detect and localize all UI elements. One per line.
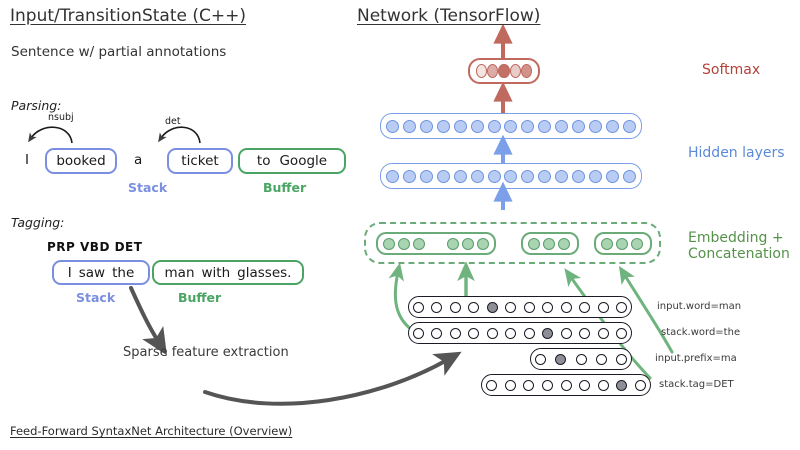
feature-label-3: stack.tag=DET (659, 379, 734, 390)
embed-node-0-1 (398, 238, 410, 250)
sparse-node-0-8 (561, 302, 572, 313)
sparse-node-1-4 (487, 328, 498, 339)
sparse-node-2-4 (616, 354, 627, 365)
embed-node-0-0 (383, 238, 395, 250)
token-I: I (25, 152, 29, 168)
sparse-node-0-4 (487, 302, 498, 313)
embed-node-1-1 (462, 238, 474, 250)
softmax-node-0 (476, 64, 487, 78)
embedding-subgroup-2 (528, 238, 570, 250)
hidden-node-1-1 (403, 170, 416, 183)
hidden-node-1-2 (420, 170, 433, 183)
sparse-node-1-7 (542, 328, 553, 339)
token-ticket: ticket (181, 153, 218, 169)
hidden-node-0-9 (538, 120, 551, 133)
embedding-subgroup-1 (447, 238, 489, 250)
sparse-feature-extraction-label: Sparse feature extraction (123, 345, 289, 360)
hidden-node-0-2 (420, 120, 433, 133)
sparse-node-0-10 (598, 302, 609, 313)
pos-tag-sequence: PRP VBD DET (47, 240, 142, 254)
sparse-node-3-5 (579, 380, 590, 391)
token-man: man (165, 265, 195, 281)
hidden-node-0-5 (471, 120, 484, 133)
hidden-node-1-14 (623, 170, 636, 183)
embed-node-2-0 (528, 238, 540, 250)
sparse-node-1-11 (616, 328, 627, 339)
sparse-node-3-2 (523, 380, 534, 391)
sparse-feature-row[interactable] (408, 296, 632, 318)
left-panel-subtitle: Sentence w/ partial annotations (11, 44, 226, 60)
token-a: a (134, 152, 142, 168)
token-saw: saw (79, 265, 105, 281)
label-hidden-layers: Hidden layers (688, 145, 785, 161)
softmax-node-3 (510, 64, 521, 78)
sparse-node-3-8 (635, 380, 646, 391)
label-embedding-line1: Embedding + (688, 230, 790, 246)
hidden-node-1-6 (488, 170, 501, 183)
softmax-node-1 (487, 64, 498, 78)
arrow-embed-4 (624, 274, 672, 352)
token-I-2: I (68, 265, 72, 281)
sparse-node-0-7 (542, 302, 553, 313)
arrow-sparse-to-vectors (205, 360, 447, 404)
hidden-node-1-12 (589, 170, 602, 183)
sparse-node-3-3 (542, 380, 553, 391)
embedding-group-b[interactable] (521, 232, 579, 255)
sparse-feature-row[interactable] (481, 374, 651, 396)
sparse-node-0-2 (450, 302, 461, 313)
hidden-node-0-3 (437, 120, 450, 133)
hidden-layer-2[interactable] (380, 113, 642, 139)
softmax-layer[interactable] (468, 58, 540, 84)
feature-label-0: input.word=man (657, 301, 741, 312)
hidden-node-0-6 (488, 120, 501, 133)
hidden-node-0-4 (454, 120, 467, 133)
hidden-node-0-1 (403, 120, 416, 133)
arrow-to-sparse-extraction (131, 288, 158, 341)
parsing-stack-chunk-booked[interactable]: booked (45, 148, 117, 174)
embed-node-3-2 (631, 238, 643, 250)
token-with: with (202, 265, 231, 281)
hidden-node-1-9 (538, 170, 551, 183)
hidden-node-0-0 (386, 120, 399, 133)
hidden-node-0-12 (589, 120, 602, 133)
sparse-node-2-1 (555, 354, 566, 365)
sparse-node-2-0 (535, 354, 546, 365)
sparse-node-3-0 (486, 380, 497, 391)
softmax-node-2 (498, 64, 509, 78)
sparse-node-1-2 (450, 328, 461, 339)
softmax-node-4 (521, 64, 532, 78)
diagram-canvas: Input/TransitionState (C++) Sentence w/ … (0, 0, 800, 450)
left-panel-title: Input/TransitionState (C++) (10, 6, 246, 26)
hidden-node-0-8 (521, 120, 534, 133)
embedding-subgroup-3 (601, 238, 643, 250)
token-Google: Google (279, 153, 327, 169)
hidden-node-0-10 (555, 120, 568, 133)
arc-label-nsubj: nsubj (48, 112, 74, 123)
arc-label-det: det (165, 116, 181, 127)
embed-node-3-1 (616, 238, 628, 250)
parsing-stack-chunk-ticket[interactable]: ticket (167, 148, 233, 174)
token-to: to (257, 153, 271, 169)
sparse-node-3-6 (598, 380, 609, 391)
sparse-node-1-1 (431, 328, 442, 339)
sparse-node-0-5 (505, 302, 516, 313)
embedding-subgroup-0 (383, 238, 425, 250)
sparse-node-0-11 (616, 302, 627, 313)
hidden-node-1-3 (437, 170, 450, 183)
embed-node-2-2 (558, 238, 570, 250)
embed-node-1-2 (477, 238, 489, 250)
hidden-node-1-5 (471, 170, 484, 183)
sparse-node-0-9 (579, 302, 590, 313)
label-softmax: Softmax (702, 62, 760, 78)
tagging-buffer-chunk[interactable]: man with glasses. (152, 260, 304, 285)
hidden-layer-1[interactable] (380, 163, 642, 189)
sparse-node-0-6 (524, 302, 535, 313)
parsing-buffer-label: Buffer (263, 180, 306, 195)
sparse-node-0-3 (468, 302, 479, 313)
sparse-node-1-10 (598, 328, 609, 339)
footer-caption: Feed-Forward SyntaxNet Architecture (Ove… (10, 424, 292, 438)
sparse-feature-row[interactable] (408, 322, 632, 344)
hidden-node-1-10 (555, 170, 568, 183)
sparse-node-3-7 (616, 380, 627, 391)
sparse-node-3-4 (561, 380, 572, 391)
sparse-node-2-3 (596, 354, 607, 365)
token-booked: booked (56, 153, 105, 169)
sparse-feature-row[interactable] (530, 348, 632, 370)
sparse-node-1-8 (561, 328, 572, 339)
dependency-arc-nsubj (31, 127, 72, 143)
tagging-stack-chunk[interactable]: I saw the (52, 260, 150, 285)
hidden-node-1-0 (386, 170, 399, 183)
right-panel-title: Network (TensorFlow) (357, 6, 540, 26)
hidden-node-1-7 (504, 170, 517, 183)
sparse-node-1-5 (505, 328, 516, 339)
parsing-buffer-chunk[interactable]: to Google (238, 148, 346, 174)
hidden-node-1-11 (572, 170, 585, 183)
sparse-node-1-3 (468, 328, 479, 339)
sparse-node-0-1 (431, 302, 442, 313)
hidden-node-0-7 (504, 120, 517, 133)
embedding-group-a[interactable] (376, 232, 496, 255)
parsing-label: Parsing: (11, 98, 61, 113)
parsing-stack-label: Stack (128, 180, 167, 195)
feature-label-2: input.prefix=ma (655, 353, 737, 364)
hidden-node-0-11 (572, 120, 585, 133)
sparse-node-2-2 (576, 354, 587, 365)
embed-node-1-0 (447, 238, 459, 250)
sparse-node-1-0 (413, 328, 424, 339)
sparse-node-1-6 (524, 328, 535, 339)
feature-label-1: stack.word=the (661, 327, 740, 338)
hidden-node-0-14 (623, 120, 636, 133)
sparse-node-3-1 (505, 380, 516, 391)
hidden-node-1-8 (521, 170, 534, 183)
sparse-node-1-9 (579, 328, 590, 339)
token-the: the (112, 265, 134, 281)
label-embedding-concatenation: Embedding + Concatenation (688, 230, 790, 262)
dependency-arc-det (161, 127, 200, 143)
tagging-buffer-label: Buffer (178, 290, 221, 305)
hidden-node-0-13 (606, 120, 619, 133)
tagging-label: Tagging: (11, 215, 64, 230)
embed-node-2-1 (543, 238, 555, 250)
label-embedding-line2: Concatenation (688, 246, 790, 262)
embedding-group-c[interactable] (594, 232, 652, 255)
token-glasses: glasses. (237, 265, 291, 281)
hidden-node-1-13 (606, 170, 619, 183)
embed-node-3-0 (601, 238, 613, 250)
hidden-node-1-4 (454, 170, 467, 183)
sparse-node-0-0 (413, 302, 424, 313)
tagging-stack-label: Stack (76, 290, 115, 305)
embed-node-0-2 (413, 238, 425, 250)
